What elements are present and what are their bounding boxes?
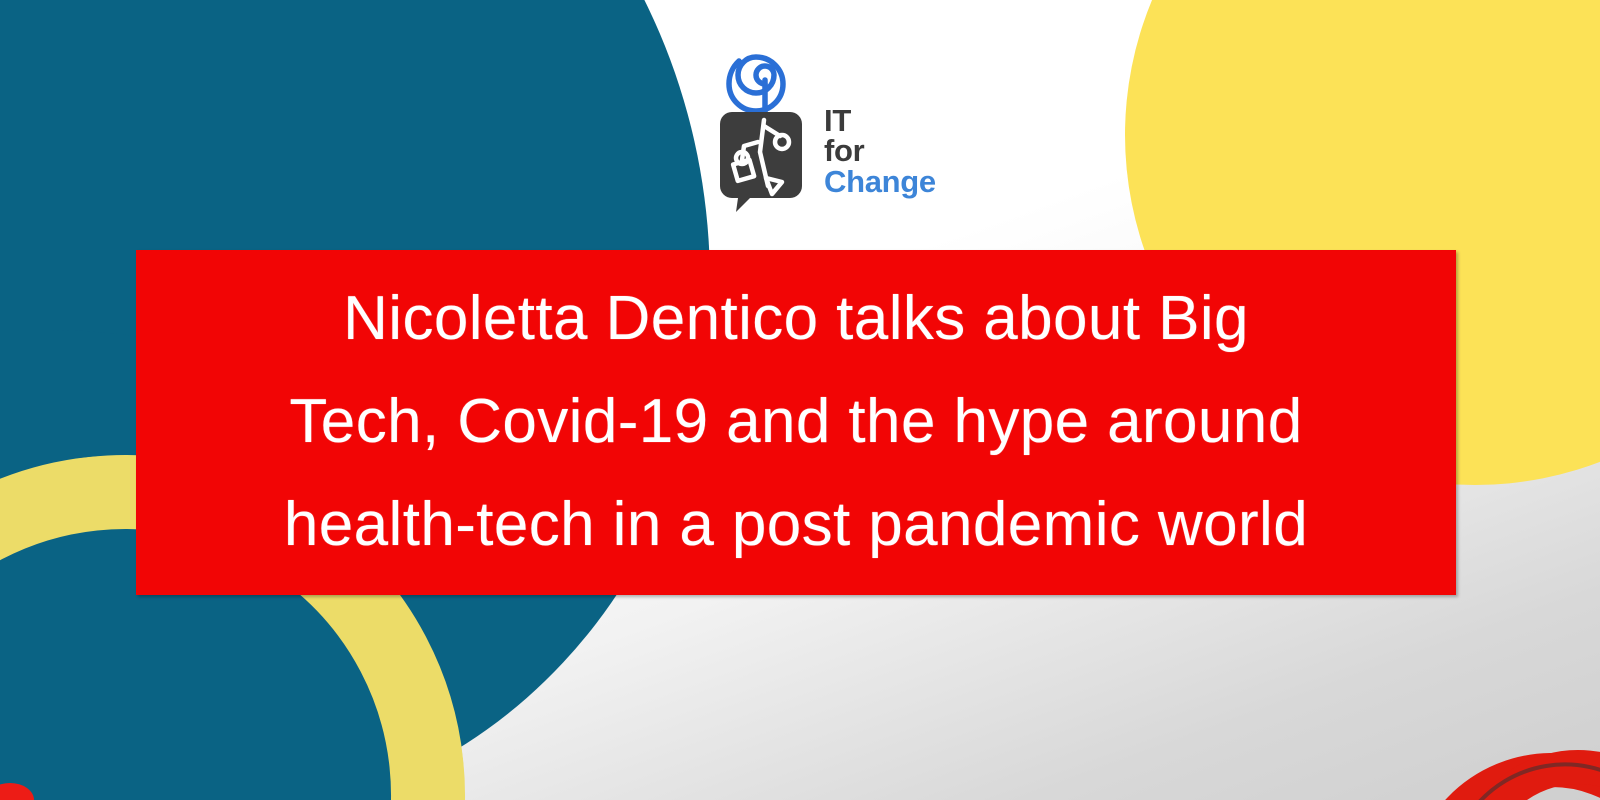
title-line-1: Nicoletta Dentico talks about Big <box>343 268 1249 371</box>
title-banner: Nicoletta Dentico talks about Big Tech, … <box>136 250 1456 595</box>
title-line-2: Tech, Covid-19 and the hype around <box>289 371 1302 474</box>
logo: IT for Change <box>712 34 974 216</box>
red-spiral-shape <box>1380 648 1600 800</box>
logo-word-change: Change <box>824 167 936 197</box>
logo-word-it: IT <box>824 106 936 136</box>
title-card-slide: IT for Change Nicoletta Dentico talks ab… <box>0 0 1600 800</box>
logo-mark <box>712 34 816 216</box>
title-line-3: health-tech in a post pandemic world <box>284 474 1308 577</box>
logo-wordmark: IT for Change <box>824 106 936 197</box>
speech-bubble-network-icon <box>720 112 802 212</box>
logo-word-for: for <box>824 136 936 166</box>
